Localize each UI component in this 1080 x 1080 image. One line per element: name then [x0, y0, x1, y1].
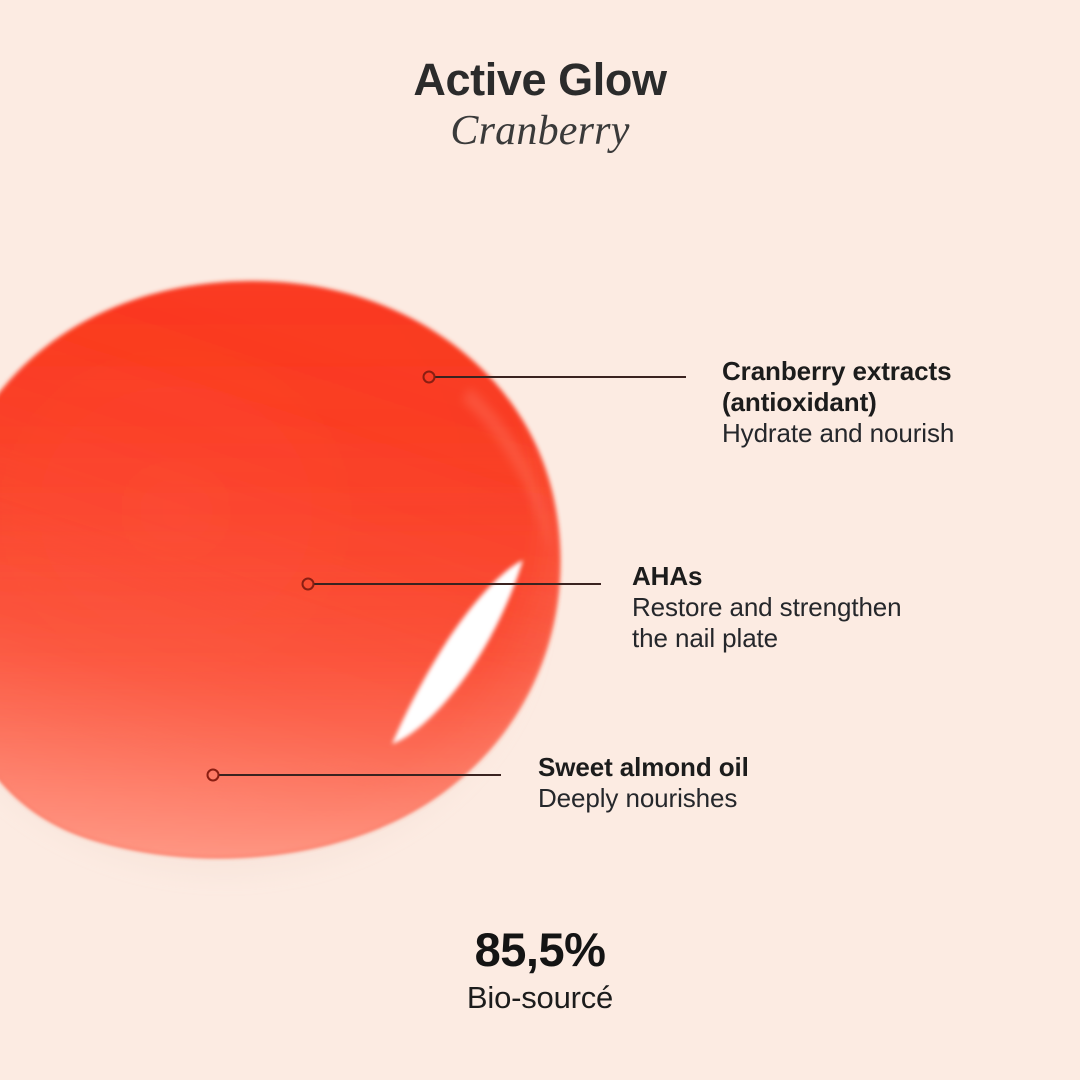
callout-title-line2: (antioxidant)	[722, 387, 954, 418]
callout-title-line1: Cranberry extracts	[722, 356, 954, 387]
stat-label: Bio-sourcé	[0, 978, 1080, 1018]
marker-dot-cranberry-extracts	[424, 372, 435, 383]
callout-sweet-almond-oil: Sweet almond oil Deeply nourishes	[538, 752, 749, 814]
page-subtitle: Cranberry	[0, 103, 1080, 160]
callout-ahas: AHAs Restore and strengthen the nail pla…	[632, 561, 902, 654]
callout-description: Hydrate and nourish	[722, 418, 954, 449]
page-header: Active Glow Cranberry	[0, 56, 1080, 160]
page-title: Active Glow	[0, 56, 1080, 103]
product-ingredient-infographic: Active Glow Cranberry Cranberry extracts…	[0, 0, 1080, 1080]
bio-sourced-stat: 85,5% Bio-sourcé	[0, 925, 1080, 1019]
callout-title-line1: AHAs	[632, 561, 902, 592]
marker-dot-ahas	[303, 579, 314, 590]
stat-value: 85,5%	[0, 925, 1080, 974]
marker-dot-sweet-almond-oil	[208, 770, 219, 781]
callout-description-line2: the nail plate	[632, 623, 902, 654]
callout-description: Restore and strengthen	[632, 592, 902, 623]
callout-cranberry-extracts: Cranberry extracts (antioxidant) Hydrate…	[722, 356, 954, 449]
callout-title-line1: Sweet almond oil	[538, 752, 749, 783]
callout-description: Deeply nourishes	[538, 783, 749, 814]
callout-leader-lines	[0, 0, 1080, 1080]
